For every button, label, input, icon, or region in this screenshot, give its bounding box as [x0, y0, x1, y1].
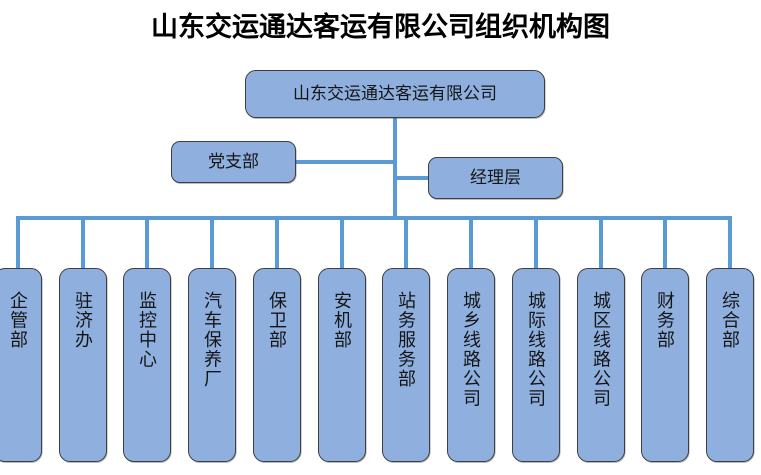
connector-department-drop: [469, 216, 473, 272]
connector-department-drop: [340, 216, 344, 272]
node-department-label: 驻济办: [74, 291, 92, 350]
connector-department-drop: [599, 216, 603, 272]
connector-department-drop: [145, 216, 149, 272]
connector-department-drop: [404, 216, 408, 272]
node-management[interactable]: 经理层: [428, 157, 563, 199]
node-department-label: 综合部: [721, 291, 739, 350]
connector-department-drop: [728, 216, 732, 272]
node-department[interactable]: 城区线路公司: [577, 268, 625, 462]
node-department-label: 汽车保养厂: [203, 291, 221, 389]
connector-branch-party: [296, 160, 395, 164]
node-department[interactable]: 站务服务部: [382, 268, 430, 462]
connector-department-drop: [81, 216, 85, 272]
node-department-label: 财务部: [656, 291, 674, 350]
node-department-label: 城区线路公司: [592, 291, 610, 408]
connector-department-drop: [16, 216, 20, 272]
node-department[interactable]: 汽车保养厂: [188, 268, 236, 462]
node-department[interactable]: 监控中心: [123, 268, 171, 462]
node-party-branch[interactable]: 党支部: [171, 141, 296, 183]
node-department-label: 站务服务部: [397, 291, 415, 389]
connector-department-bus: [18, 216, 730, 220]
node-department[interactable]: 财务部: [641, 268, 689, 462]
node-department[interactable]: 企管部: [0, 268, 42, 462]
connector-department-drop: [534, 216, 538, 272]
node-department[interactable]: 驻济办: [59, 268, 107, 462]
connector-department-drop: [663, 216, 667, 272]
node-department[interactable]: 城乡线路公司: [447, 268, 495, 462]
node-department[interactable]: 保卫部: [253, 268, 301, 462]
node-department-label: 企管部: [9, 291, 27, 350]
connector-branch-management: [393, 176, 430, 180]
connector-department-drop: [275, 216, 279, 272]
page-title: 山东交运通达客运有限公司组织机构图: [0, 10, 761, 44]
node-department-label: 监控中心: [138, 291, 156, 369]
connector-root-stem: [393, 118, 397, 218]
node-department-label: 安机部: [333, 291, 351, 350]
node-root[interactable]: 山东交运通达客运有限公司: [245, 70, 545, 118]
node-department[interactable]: 综合部: [706, 268, 754, 462]
node-department-label: 保卫部: [268, 291, 286, 350]
node-department[interactable]: 城际线路公司: [512, 268, 560, 462]
org-chart-canvas: 山东交运通达客运有限公司组织机构图 山东交运通达客运有限公司 党支部 经理层 企…: [0, 0, 761, 475]
node-department-label: 城际线路公司: [527, 291, 545, 408]
node-department[interactable]: 安机部: [318, 268, 366, 462]
connector-department-drop: [210, 216, 214, 272]
node-department-label: 城乡线路公司: [462, 291, 480, 408]
